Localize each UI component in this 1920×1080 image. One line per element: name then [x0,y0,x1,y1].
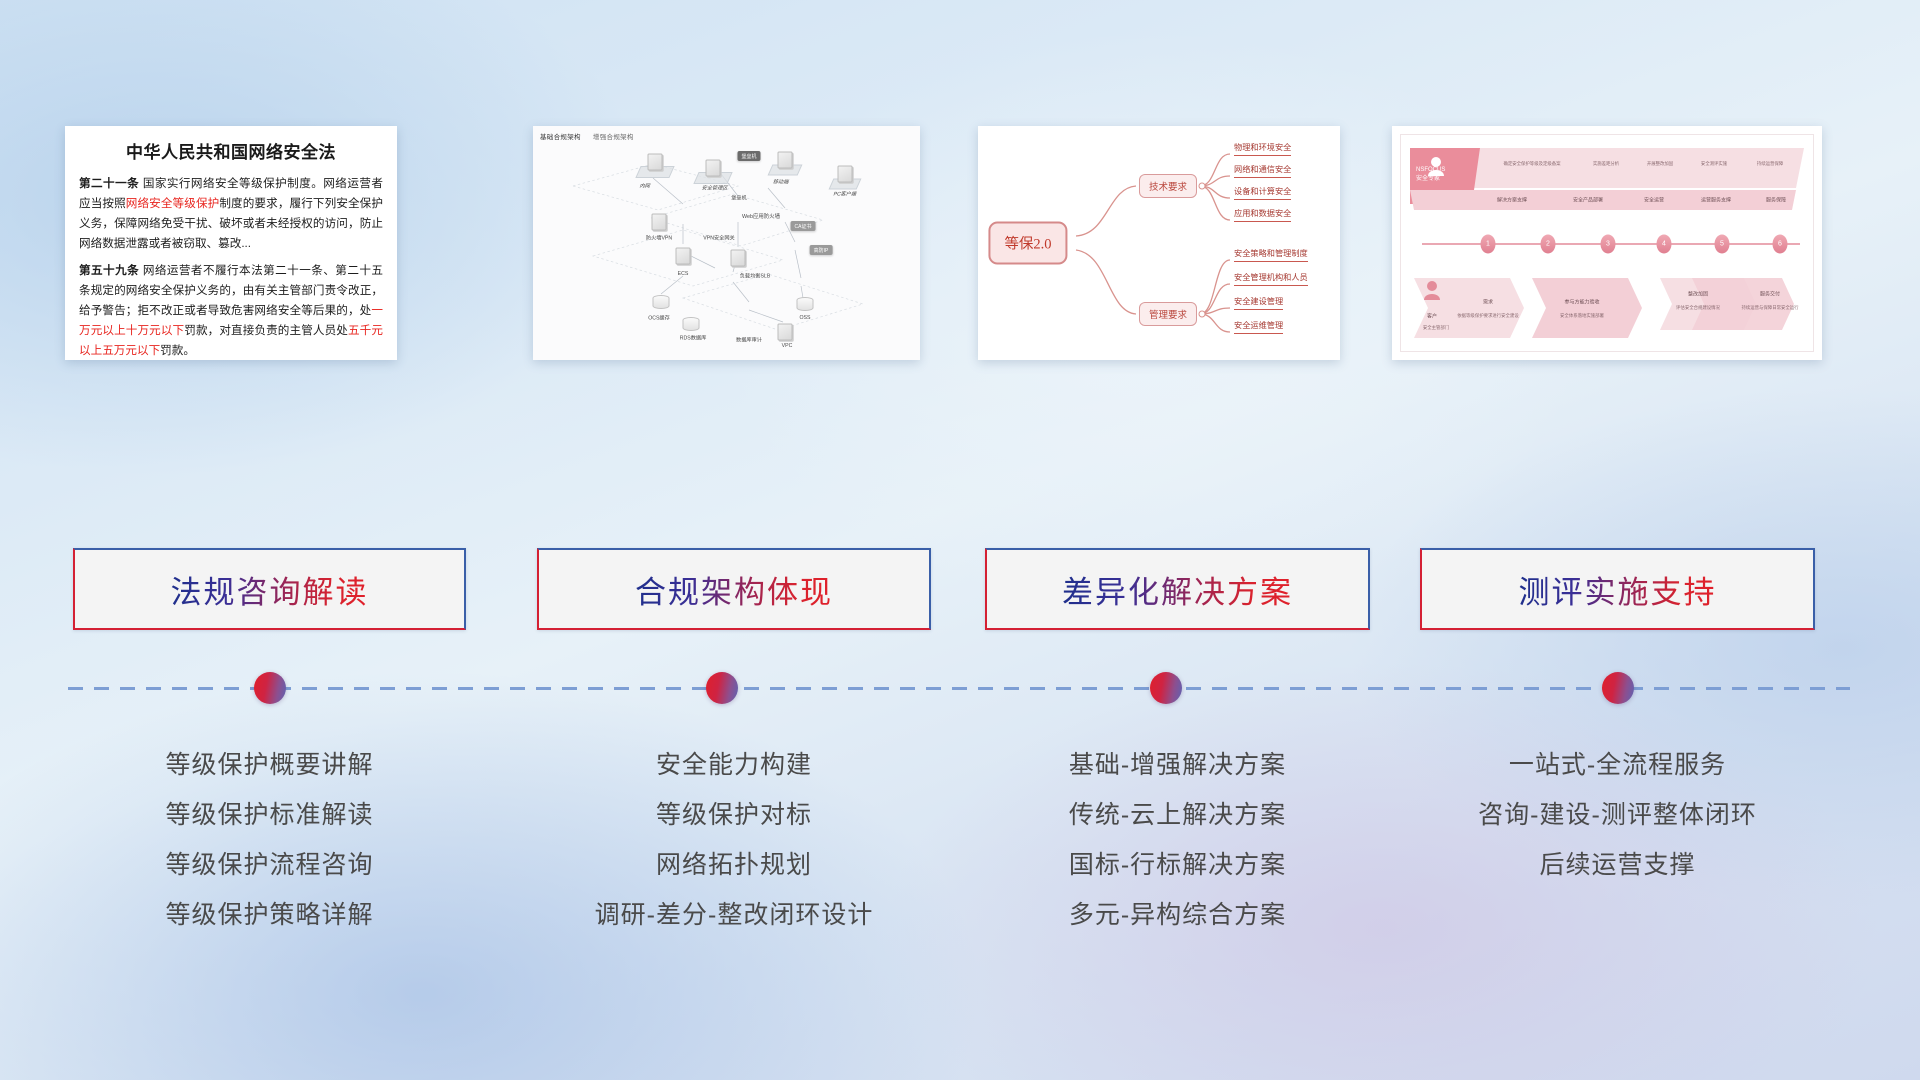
nsfocus-diagram: NSFOCUS 安全专家 确定安全保护等级及定级备案 实施差距分析 开展整改加固… [1392,126,1822,360]
list-item: 多元-异构综合方案 [985,890,1370,940]
law-article-59-text-b: 罚款，对直接负责的主管人员处 [184,324,348,337]
arch-label-ecs: ECS [678,271,689,277]
service-column-2: 安全能力构建 等级保护对标 网络拓扑规划 调研-差分-整改闭环设计 [537,740,931,940]
heading-label-2: 合规架构体现 [635,567,833,612]
card-nsfocus-process[interactable]: NSFOCUS 安全专家 确定安全保护等级及定级备案 实施差距分析 开展整改加固… [1392,126,1822,360]
nsfocus-top-step-2: 实施差距分析 [1593,161,1619,167]
nsfocus-brand: NSFOCUS 安全专家 [1416,166,1445,184]
timeline-dot-1[interactable] [254,672,286,704]
nsfocus-bottom-sub-3: 评估安全合规建设情况 [1676,305,1720,311]
arch-label-security-zone: 安全管理区 [701,185,729,192]
arch-label-oss: OSS [800,315,811,321]
arch-chip-ca-cert: CA证书 [791,221,816,231]
arch-label-db-audit: 数据库审计 [736,337,762,344]
mindmap-leaf-device-compute: 设备和计算安全 [1234,185,1291,200]
arch-chip-anti-ddos: 高防IP [810,245,833,255]
heading-box-differentiated-solutions[interactable]: 差异化解决方案 [985,548,1370,630]
node-icon-slb [731,250,746,267]
list-item: 基础-增强解决方案 [985,740,1370,790]
nsfocus-step-number-6: 6 [1773,235,1788,254]
mindmap-branch-management: 管理要求 [1139,302,1197,326]
arch-label-slb: 负载均衡SLB [740,273,771,280]
list-item: 等级保护策略详解 [73,890,466,940]
list-item: 调研-差分-整改闭环设计 [537,890,931,940]
arch-label-pc: PC客户端 [832,191,857,198]
mindmap-leaf-app-data: 应用和数据安全 [1234,207,1291,222]
arch-label-bastion: 堡垒机 [731,195,747,202]
nsfocus-bottom-label-3: 整改加固 [1688,291,1708,298]
law-title: 中华人民共和国网络安全法 [79,138,383,163]
nsfocus-top-step-1: 确定安全保护等级及定级备案 [1503,161,1560,167]
list-item: 等级保护概要讲解 [73,740,466,790]
list-item: 后续运营支撑 [1420,840,1815,890]
node-icon-firewall [652,214,667,231]
nsfocus-bottom-customer-sub: 安全主管部门 [1423,325,1449,331]
arch-chip-title: 堡垒机 [737,151,760,161]
list-item: 等级保护对标 [537,790,931,840]
nsfocus-bottom-sub-1: 依据等级保护要求进行安全建设 [1457,313,1518,319]
heading-row: 法规咨询解读 合规架构体现 差异化解决方案 测评实施支持 [0,548,1920,630]
list-item: 网络拓扑规划 [537,840,931,890]
arch-label-vpc: VPC [782,343,793,349]
nsfocus-step-number-4: 4 [1657,235,1672,254]
timeline [0,668,1920,708]
mindmap-leaf-policy-system: 安全策略和管理制度 [1234,247,1308,262]
nsfocus-mid-label-2: 安全产品部署 [1573,197,1603,204]
heading-box-compliance-architecture[interactable]: 合规架构体现 [537,548,931,630]
mindmap-leaf-org-personnel: 安全管理机构和人员 [1234,271,1308,286]
architecture-diagram: 基础合规架构 增强合规架构 [533,126,920,360]
nsfocus-bottom-sub-2: 安全体系落地实施部署 [1560,313,1604,319]
heading-label-1: 法规咨询解读 [171,567,369,612]
nsfocus-bottom-customer: 客户 [1427,313,1437,320]
heading-label-4: 测评实施支持 [1519,567,1717,612]
architecture-lines [533,126,920,360]
arch-label-mobile: 移动端 [772,179,790,186]
card-dengbao-mindmap[interactable]: 等保2.0 技术要求 管理要求 物理和环境安全 网络和通信安全 设备和计算安全 … [978,126,1340,360]
nsfocus-brand-name: NSFOCUS [1416,166,1445,175]
node-icon-ecs [676,248,691,265]
heading-box-assessment-support[interactable]: 测评实施支持 [1420,548,1815,630]
slide-canvas: 中华人民共和国网络安全法 第二十一条 国家实行网络安全等级保护制度。网络运营者应… [0,0,1920,1080]
node-icon-mobile [778,152,793,169]
timeline-dot-3[interactable] [1150,672,1182,704]
heading-label-3: 差异化解决方案 [1062,567,1293,612]
list-item: 咨询-建设-测评整体闭环 [1420,790,1815,840]
list-item: 一站式-全流程服务 [1420,740,1815,790]
card-compliance-architecture[interactable]: 基础合规架构 增强合规架构 [533,126,920,360]
nsfocus-bottom-label-4: 服务交付 [1760,291,1780,298]
nsfocus-bottom-label-2: 参与方能力验收 [1564,299,1599,306]
mindmap-leaf-construction-mgmt: 安全建设管理 [1234,295,1283,310]
nsfocus-mid-label-5: 服务保障 [1766,197,1786,204]
node-icon-rds [683,317,700,331]
nsfocus-mid-label-3: 安全运营 [1644,197,1664,204]
list-item: 安全能力构建 [537,740,931,790]
node-icon-vpc [778,324,793,341]
node-icon-internal-network [648,154,663,171]
mindmap-diagram: 等保2.0 技术要求 管理要求 物理和环境安全 网络和通信安全 设备和计算安全 … [978,126,1340,360]
law-article-21-label: 第二十一条 [79,177,139,190]
node-icon-security-mgmt [706,160,721,177]
law-article-59: 第五十九条 网络运营者不履行本法第二十一条、第二十五条规定的网络安全保护义务的，… [79,261,383,360]
law-article-21: 第二十一条 国家实行网络安全等级保护制度。网络运营者应当按照网络安全等级保护制度… [79,174,383,254]
nsfocus-mid-label-1: 解决方案支撑 [1497,197,1527,204]
nsfocus-mid-label-4: 运营服务支撑 [1701,197,1731,204]
mindmap-leaf-ops-mgmt: 安全运维管理 [1234,319,1283,334]
service-list-row: 等级保护概要讲解 等级保护标准解读 等级保护流程咨询 等级保护策略详解 安全能力… [0,740,1920,980]
nsfocus-top-step-3: 开展整改加固 [1647,161,1673,167]
node-icon-ocs [653,295,670,309]
arch-label-waf: Web应用防火墙 [742,212,780,220]
law-article-59-text-c: 罚款。 [160,344,195,357]
law-document: 中华人民共和国网络安全法 第二十一条 国家实行网络安全等级保护制度。网络运营者应… [65,126,397,360]
nsfocus-step-number-5: 5 [1715,235,1730,254]
heading-box-regulation-consulting[interactable]: 法规咨询解读 [73,548,466,630]
list-item: 等级保护标准解读 [73,790,466,840]
nsfocus-bottom-label-1: 需求 [1483,299,1493,306]
nsfocus-top-step-5: 持续运营保障 [1757,161,1783,167]
arch-label-firewall-vpn: 防火墙VPN [646,235,672,242]
timeline-dashed-line [68,687,1850,690]
nsfocus-top-step-4: 安全测评实施 [1701,161,1727,167]
timeline-dot-2[interactable] [706,672,738,704]
image-card-row: 中华人民共和国网络安全法 第二十一条 国家实行网络安全等级保护制度。网络运营者应… [0,126,1920,360]
node-icon-oss [797,297,814,311]
nsfocus-step-number-2: 2 [1541,235,1556,254]
card-cybersecurity-law[interactable]: 中华人民共和国网络安全法 第二十一条 国家实行网络安全等级保护制度。网络运营者应… [65,126,397,360]
list-item: 传统-云上解决方案 [985,790,1370,840]
arch-label-rds: RDS数据库 [680,335,707,342]
arch-label-ocs: OCS缓存 [648,315,670,322]
list-item: 等级保护流程咨询 [73,840,466,890]
arch-label-vpn-gateway: VPN安全网关 [703,235,734,242]
mindmap-branch-technical: 技术要求 [1139,174,1197,198]
service-column-4: 一站式-全流程服务 咨询-建设-测评整体闭环 后续运营支撑 [1420,740,1815,890]
law-article-21-highlight: 网络安全等级保护 [126,197,220,210]
node-icon-pc [838,166,853,183]
mindmap-root-node: 等保2.0 [988,222,1067,265]
service-column-1: 等级保护概要讲解 等级保护标准解读 等级保护流程咨询 等级保护策略详解 [73,740,466,940]
list-item: 国标-行标解决方案 [985,840,1370,890]
nsfocus-brand-sub: 安全专家 [1416,175,1445,184]
mindmap-leaf-physical-env: 物理和环境安全 [1234,141,1291,156]
mindmap-leaf-network-comm: 网络和通信安全 [1234,163,1291,178]
nsfocus-bottom-sub-4: 持续运营与保障日常安全运行 [1741,305,1798,311]
nsfocus-step-number-3: 3 [1601,235,1616,254]
nsfocus-step-number-1: 1 [1481,235,1496,254]
service-column-3: 基础-增强解决方案 传统-云上解决方案 国标-行标解决方案 多元-异构综合方案 [985,740,1370,940]
law-article-59-label: 第五十九条 [79,264,139,277]
timeline-dot-4[interactable] [1602,672,1634,704]
